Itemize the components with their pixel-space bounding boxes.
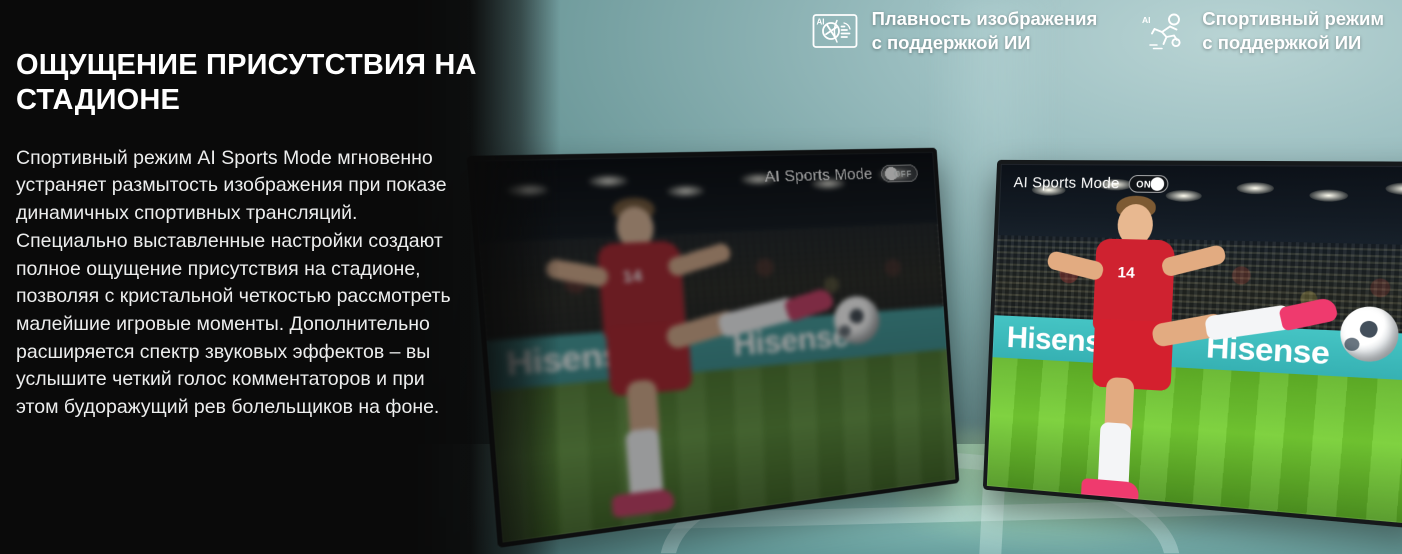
- text-panel: ОЩУЩЕНИЕ ПРИСУТСТВИЯ НА СТАДИОНЕ Спортив…: [0, 0, 560, 554]
- ai-sports-mode-runner-icon: AI: [1141, 10, 1189, 52]
- badge-sports-mode: AI Спортивный режим с поддержкой ИИ: [1141, 7, 1384, 54]
- svg-text:AI: AI: [1142, 15, 1151, 25]
- badge-picture-smoothness-text: Плавность изображения с поддержкой ИИ: [872, 7, 1098, 54]
- tv-right-jersey-number: 14: [1117, 264, 1135, 282]
- promo-banner: Hisense Hisense 14: [0, 0, 1402, 554]
- tv-right-screen: Hisense Hisense 14 AI: [987, 164, 1402, 525]
- badge-1-line-1: Плавность изображения: [872, 8, 1098, 29]
- tv-right-osd-label: AI Sports Mode: [1013, 174, 1120, 192]
- tv-right-toggle-knob: [1150, 177, 1164, 191]
- badge-2-line-1: Спортивный режим: [1202, 8, 1384, 29]
- badge-1-line-2: с поддержкой ИИ: [872, 32, 1031, 53]
- tv-left-toggle-state: OFF: [893, 168, 912, 179]
- page-title: ОЩУЩЕНИЕ ПРИСУТСТВИЯ НА СТАДИОНЕ: [16, 48, 486, 119]
- badge-picture-smoothness: AI Плавность изображения с поддержкой ИИ: [811, 7, 1098, 54]
- television-right-ai-on: Hisense Hisense 14 AI: [983, 160, 1402, 530]
- tv-right-toggle-state: ON: [1136, 179, 1151, 190]
- tv-left-ai-sports-toggle[interactable]: OFF: [881, 164, 919, 182]
- badge-2-line-2: с поддержкой ИИ: [1202, 32, 1361, 53]
- tv-left-osd-label: AI Sports Mode: [764, 165, 873, 186]
- badge-sports-mode-text: Спортивный режим с поддержкой ИИ: [1202, 7, 1384, 54]
- feature-badges: AI Плавность изображения с поддержкой ИИ…: [811, 7, 1384, 54]
- ai-picture-smoothness-icon: AI: [811, 10, 859, 52]
- description-text: Спортивный режим AI Sports Mode мгновенн…: [16, 145, 456, 422]
- tv-right-osd: AI Sports Mode ON: [1013, 174, 1169, 193]
- tv-right-ai-sports-toggle[interactable]: ON: [1129, 175, 1169, 193]
- svg-text:AI: AI: [816, 17, 824, 26]
- tv-left-jersey-number: 14: [622, 267, 643, 287]
